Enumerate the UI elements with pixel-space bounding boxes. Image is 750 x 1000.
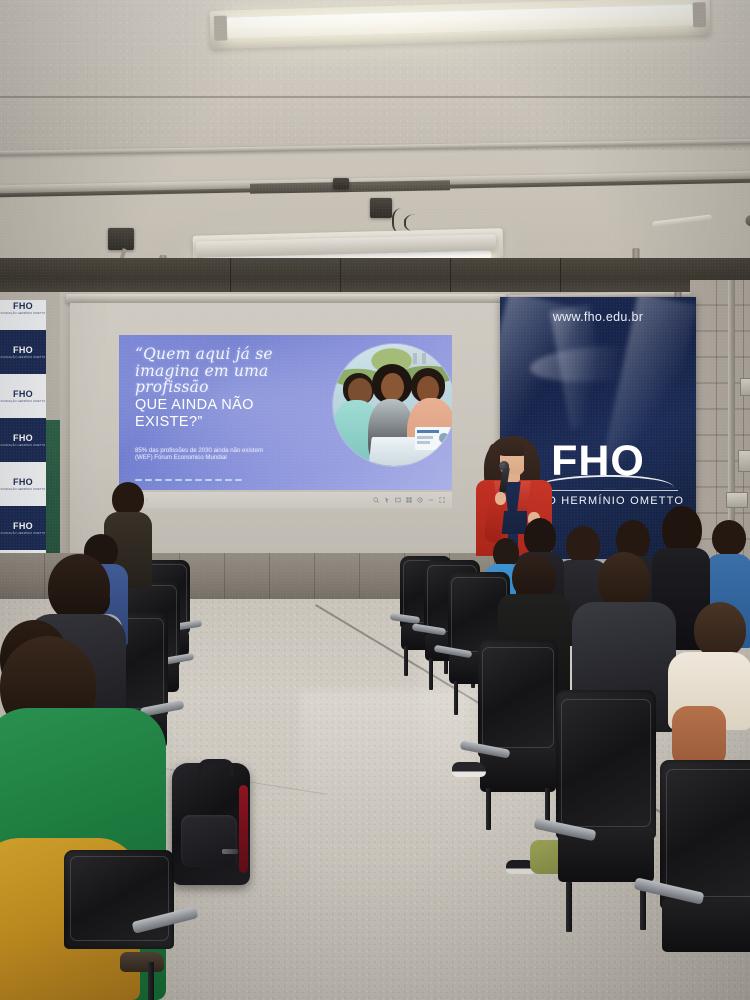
backdrop-sub: FUNDAÇÃO HERMÍNIO OMETTO [1, 400, 46, 403]
electrical-box [740, 378, 750, 396]
chair[interactable] [64, 850, 174, 1000]
backdrop-tile: FHO FUNDAÇÃO HERMÍNIO OMETTO [0, 330, 46, 374]
rectangle-icon[interactable] [395, 497, 401, 503]
backdrop-tile: FHO FUNDAÇÃO HERMÍNIO OMETTO [0, 300, 46, 330]
toolbar-icons[interactable] [373, 497, 445, 503]
wall-speaker [108, 228, 134, 250]
slide-footnote: 85% das profissões de 2030 ainda não exi… [135, 447, 325, 462]
chair-back [556, 690, 656, 839]
backpack-zipper [222, 849, 238, 854]
presentation-slide[interactable]: “Quem aqui já se imagina em uma profissã… [119, 335, 452, 490]
screen-housing [66, 294, 506, 303]
pointer-icon[interactable] [384, 497, 390, 503]
back-wall-dark-band [0, 258, 750, 292]
slide-progress-dots [135, 479, 242, 482]
backdrop-tile: FHO FUNDAÇÃO HERMÍNIO OMETTO [0, 418, 46, 462]
grid-icon[interactable] [406, 497, 412, 503]
ceiling-junction-box [370, 198, 392, 218]
backdrop-sub: FUNDAÇÃO HERMÍNIO OMETTO [1, 488, 46, 491]
person-head [524, 518, 556, 556]
chair[interactable] [660, 760, 750, 1000]
photo-person-b-head [381, 373, 404, 401]
slide-caps-line-1: QUE AINDA NÃO [135, 397, 300, 414]
slide-footnote-line-2: (WEF) Fórum Economico Mundial [135, 454, 325, 461]
slide-caps-line-2: EXISTE?” [135, 414, 300, 431]
person-head [694, 602, 746, 658]
chair-back [64, 850, 174, 949]
slide-photo-circle [333, 344, 452, 466]
backdrop-logo: FHO [13, 477, 33, 487]
chair-leg [566, 882, 572, 932]
chair-leg [486, 788, 491, 830]
chair-seat [480, 750, 557, 792]
band-segment [450, 258, 561, 292]
person-head [112, 482, 144, 516]
electrical-box [726, 492, 748, 508]
next-slide-button[interactable]: › [146, 497, 148, 503]
person-head [566, 526, 600, 564]
backdrop-logo: FHO [13, 301, 33, 311]
fluorescent-tube [226, 4, 694, 38]
step-and-repeat-backdrop: FHO FUNDAÇÃO HERMÍNIO OMETTO FHO FUNDAÇÃ… [0, 300, 46, 565]
slide-script-line-3: profissão [135, 379, 300, 396]
photo-ui-avatar [439, 433, 449, 444]
microphone-head [499, 461, 509, 471]
chair-leg [148, 962, 154, 1000]
backdrop-tile: FHO FUNDAÇÃO HERMÍNIO OMETTO [0, 462, 46, 506]
chair-leg [429, 658, 433, 690]
presentation-toolbar[interactable]: ‹ 4/28 › [119, 492, 452, 508]
chair[interactable] [556, 690, 656, 930]
shoe-white-sole [452, 762, 486, 777]
person-arm [672, 706, 726, 768]
chair-leg [454, 681, 458, 715]
person-head [712, 520, 746, 556]
backpack-red-stripe [239, 785, 248, 873]
auditorium-photo: “Quem aqui já se imagina em uma profissã… [0, 0, 750, 1000]
backdrop-sub: FUNDAÇÃO HERMÍNIO OMETTO [1, 356, 46, 359]
ceiling-junction-box [333, 178, 349, 189]
backdrop-logo: FHO [13, 389, 33, 399]
backdrop-sub: FUNDAÇÃO HERMÍNIO OMETTO [1, 444, 46, 447]
backdrop-tile: FHO FUNDAÇÃO HERMÍNIO OMETTO [0, 374, 46, 418]
banner-url: www.fho.edu.br [500, 310, 696, 324]
backdrop-sub: FUNDAÇÃO HERMÍNIO OMETTO [1, 532, 46, 535]
backdrop-logo: FHO [13, 521, 33, 531]
band-segment [120, 258, 231, 292]
fullscreen-icon[interactable] [439, 497, 445, 503]
backpack [172, 763, 250, 885]
chair-back [478, 640, 558, 758]
slide-script-line-1: “Quem aqui já se [135, 346, 300, 363]
tube-end-cap [214, 16, 228, 41]
ceiling-seam [0, 96, 750, 98]
clock-icon[interactable] [417, 497, 423, 503]
backpack-handle [198, 759, 234, 776]
electrical-box [738, 450, 750, 472]
photo-ui-card [415, 427, 452, 450]
slide-script-line-2: imagina em uma [135, 363, 300, 380]
chair-leg [404, 646, 408, 676]
search-icon[interactable] [373, 497, 379, 503]
band-segment [340, 258, 451, 292]
backpack-front-pocket [181, 815, 237, 867]
speaker-hand-mic [495, 492, 506, 505]
minus-icon[interactable] [428, 497, 434, 503]
backdrop-logo: FHO [13, 345, 33, 355]
person-head [662, 506, 702, 554]
person-head [48, 554, 110, 622]
chair[interactable] [478, 640, 558, 830]
backdrop-logo: FHO [13, 433, 33, 443]
chair-seat [558, 829, 654, 882]
backdrop-sub: FUNDAÇÃO HERMÍNIO OMETTO [1, 312, 46, 315]
backdrop-tile: FHO FUNDAÇÃO HERMÍNIO OMETTO [0, 506, 46, 550]
slide-headline: “Quem aqui já se imagina em uma profissã… [135, 346, 300, 431]
chair-seat [662, 899, 750, 952]
tube-end-cap [693, 2, 707, 27]
band-segment [230, 258, 341, 292]
